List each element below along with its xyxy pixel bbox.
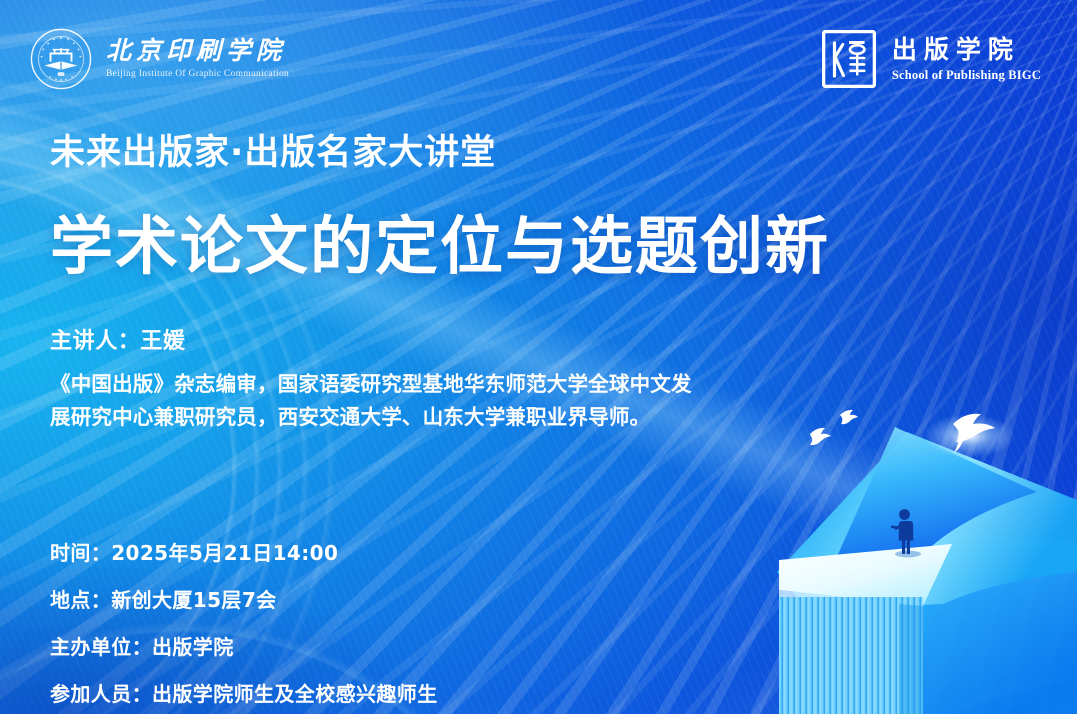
page-title: 学术论文的定位与选题创新 bbox=[50, 212, 1077, 283]
detail-participants: 参加人员：出版学院师生及全校感兴趣师生 bbox=[50, 684, 438, 704]
school-name-en: School of Publishing BIGC bbox=[892, 69, 1041, 82]
dove-icon bbox=[840, 410, 858, 424]
series-kicker: 未来出版家·出版名家大讲堂 bbox=[50, 132, 1077, 174]
book-podium-illustration bbox=[747, 404, 1077, 714]
flying-bird-icon bbox=[923, 414, 1015, 458]
university-name-cn: 北京印刷学院 bbox=[106, 38, 289, 63]
event-poster: 北京印刷学院 Beijing Institute Of Graphic Comm… bbox=[0, 0, 1077, 714]
bigc-seal-icon bbox=[30, 28, 92, 90]
university-name-en: Beijing Institute Of Graphic Communicati… bbox=[106, 70, 289, 80]
event-details: 时间：2025年5月21日14:00 地点：新创大厦15层7会 主办单位：出版学… bbox=[50, 543, 438, 704]
dove-icon bbox=[810, 428, 831, 445]
detail-location: 地点：新创大厦15层7会 bbox=[50, 590, 438, 610]
speaker-bio-line: 《中国出版》杂志编审，国家语委研究型基地华东师范大学全球中文发 bbox=[50, 368, 1077, 401]
detail-organizer: 主办单位：出版学院 bbox=[50, 637, 438, 657]
speaker-name: 主讲人：王媛 bbox=[50, 323, 1077, 355]
school-name-cn: 出版学院 bbox=[892, 37, 1020, 62]
poster-content: 未来出版家·出版名家大讲堂 学术论文的定位与选题创新 主讲人：王媛 《中国出版》… bbox=[50, 132, 1077, 434]
detail-time: 时间：2025年5月21日14:00 bbox=[50, 543, 438, 563]
school-logo: 出版学院 School of Publishing BIGC bbox=[822, 30, 1041, 88]
poster-header: 北京印刷学院 Beijing Institute Of Graphic Comm… bbox=[0, 0, 1077, 110]
publishing-stamp-icon bbox=[822, 30, 876, 88]
university-logo: 北京印刷学院 Beijing Institute Of Graphic Comm… bbox=[30, 28, 289, 90]
